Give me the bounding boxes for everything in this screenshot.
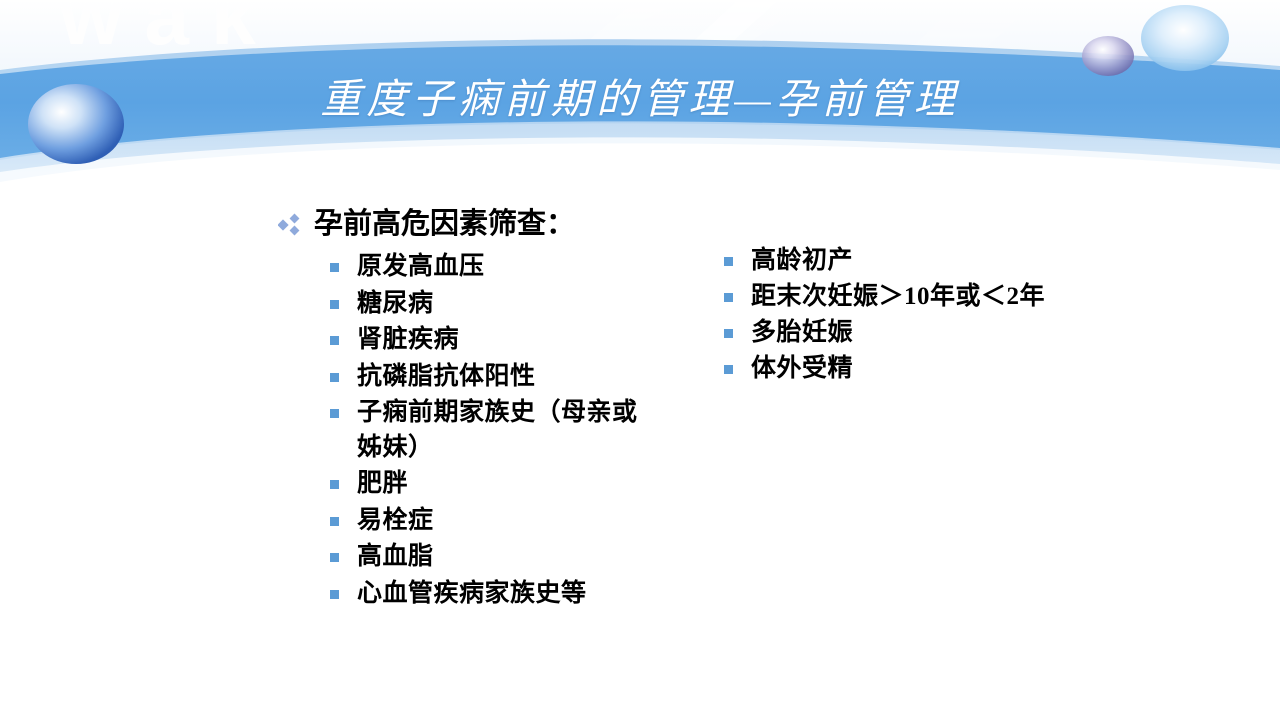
- list-item-label: 高血脂: [357, 540, 434, 575]
- square-bullet-icon: [330, 553, 339, 562]
- square-bullet-icon: [724, 329, 733, 338]
- list-item-label: 肾脏疾病: [357, 323, 459, 358]
- glossy-lightblue-sphere-icon: [1141, 5, 1229, 71]
- bullet-column-left: 原发高血压 糖尿病 肾脏疾病 抗磷脂抗体阳性 子痫前期家族史（母亲或姊妹） 肥胖: [330, 250, 660, 613]
- list-item: 多胎妊娠: [724, 316, 1064, 350]
- square-bullet-icon: [330, 263, 339, 272]
- square-bullet-icon: [330, 517, 339, 526]
- list-item-label: 肥胖: [357, 467, 408, 502]
- square-bullet-icon: [724, 257, 733, 266]
- square-bullet-icon: [330, 336, 339, 345]
- list-item-label: 糖尿病: [357, 287, 434, 322]
- slide: w a k 医学课件网: [0, 0, 1280, 720]
- list-item: 高龄初产: [724, 244, 1064, 278]
- square-bullet-icon: [724, 365, 733, 374]
- list-item: 距末次妊娠＞10年或＜2年: [724, 280, 1064, 314]
- list-item-label: 体外受精: [751, 352, 853, 386]
- list-item: 肥胖: [330, 467, 660, 502]
- glossy-purple-sphere-icon: [1082, 36, 1134, 76]
- list-item-label: 心血管疾病家族史等: [357, 577, 587, 612]
- list-item-label: 抗磷脂抗体阳性: [357, 360, 536, 395]
- bullet-column-right: 高龄初产 距末次妊娠＞10年或＜2年 多胎妊娠 体外受精: [724, 244, 1064, 388]
- list-item-label: 多胎妊娠: [751, 316, 853, 350]
- slide-content: 孕前高危因素筛查： 原发高血压 糖尿病 肾脏疾病 抗磷脂抗体阳性 子痫前: [0, 196, 1280, 696]
- list-item-label: 子痫前期家族史（母亲或姊妹）: [357, 396, 660, 465]
- list-item-label: 原发高血压: [357, 250, 485, 285]
- content-heading: 孕前高危因素筛查：: [278, 208, 575, 242]
- list-item: 易栓症: [330, 504, 660, 539]
- list-item-label: 高龄初产: [751, 244, 853, 278]
- square-bullet-icon: [330, 590, 339, 599]
- content-heading-label: 孕前高危因素筛查：: [314, 208, 575, 241]
- list-item-label: 易栓症: [357, 504, 434, 539]
- square-bullet-icon: [330, 480, 339, 489]
- list-item: 体外受精: [724, 352, 1064, 386]
- list-item-label: 距末次妊娠＞10年或＜2年: [751, 280, 1045, 314]
- list-item: 肾脏疾病: [330, 323, 660, 358]
- list-item: 子痫前期家族史（母亲或姊妹）: [330, 396, 660, 465]
- list-item: 心血管疾病家族史等: [330, 577, 660, 612]
- list-item: 高血脂: [330, 540, 660, 575]
- list-item: 糖尿病: [330, 287, 660, 322]
- square-bullet-icon: [330, 373, 339, 382]
- page-title: 重度子痫前期的管理—孕前管理: [0, 76, 1280, 123]
- square-bullet-icon: [724, 293, 733, 302]
- list-item: 抗磷脂抗体阳性: [330, 360, 660, 395]
- square-bullet-icon: [330, 300, 339, 309]
- list-item: 原发高血压: [330, 250, 660, 285]
- square-bullet-icon: [330, 409, 339, 418]
- diamond-bullet-icon: [278, 212, 304, 242]
